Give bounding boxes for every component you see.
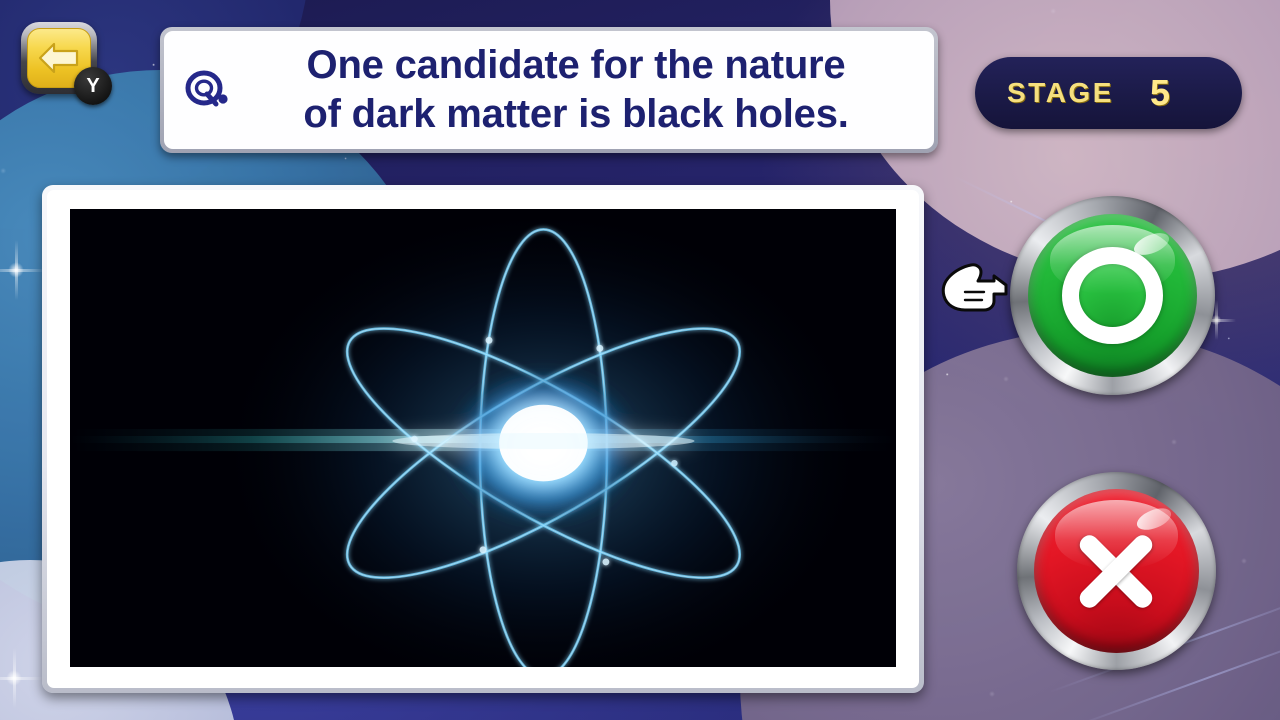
cross-icon [1069,524,1163,617]
stage-value: 5 [1150,72,1170,114]
circle-outline-icon [1062,247,1163,345]
star-sparkle [0,648,44,708]
y-badge-label: Y [86,75,99,98]
pointing-hand-cursor [938,258,1012,323]
atom-illustration [70,209,896,667]
image-frame [47,190,919,688]
question-image-panel [42,185,924,693]
true-answer-button[interactable] [1010,196,1215,395]
green-button-face [1028,214,1197,377]
game-screen: Y One candidate for the nature of dark m… [0,0,1280,720]
question-bar: One candidate for the nature of dark mat… [160,27,938,153]
left-arrow-icon [37,40,81,76]
q-letter-icon [183,67,233,113]
question-mark-icon [180,67,236,113]
hand-pointer-icon [938,258,1012,318]
stage-indicator: STAGE 5 [975,57,1242,129]
question-bar-inner: One candidate for the nature of dark mat… [164,31,934,149]
red-button-face [1034,489,1199,653]
question-text: One candidate for the nature of dark mat… [236,41,916,139]
star-sparkle [0,240,46,300]
atom-photo [70,209,896,667]
false-answer-button[interactable] [1017,472,1216,670]
button-hint-y-badge: Y [74,67,112,105]
stage-label: STAGE [1007,77,1114,109]
